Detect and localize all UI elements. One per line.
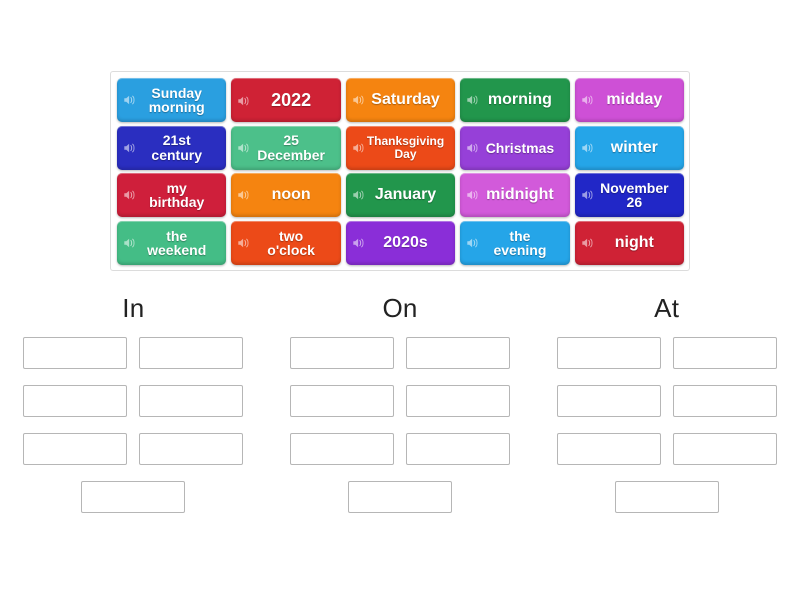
drop-slot[interactable] (139, 385, 243, 417)
speaker-icon[interactable] (352, 93, 366, 107)
word-tile[interactable]: noon (231, 173, 340, 217)
drop-slot[interactable] (23, 337, 127, 369)
word-tile[interactable]: my birthday (117, 173, 226, 217)
word-tile[interactable]: Saturday (346, 78, 455, 122)
word-tile-label: noon (245, 187, 336, 203)
word-tile[interactable]: January (346, 173, 455, 217)
speaker-icon[interactable] (466, 93, 480, 107)
drop-slot[interactable] (290, 385, 394, 417)
speaker-icon[interactable] (466, 236, 480, 250)
drop-slot[interactable] (406, 337, 510, 369)
drop-slot-grid (284, 337, 516, 513)
word-tile-label: my birthday (131, 181, 222, 210)
drop-slot[interactable] (557, 337, 661, 369)
speaker-icon[interactable] (352, 141, 366, 155)
word-tile-label: Saturday (360, 92, 451, 108)
drop-slot[interactable] (290, 433, 394, 465)
word-tile-label: 25 December (245, 133, 336, 162)
tile-pool: Sunday morning2022Saturdaymorningmidday2… (110, 71, 690, 271)
drop-slot[interactable] (23, 433, 127, 465)
tile-row: Sunday morning2022Saturdaymorningmidday (117, 78, 684, 122)
drop-slot[interactable] (673, 433, 777, 465)
word-tile[interactable]: 2020s (346, 221, 455, 265)
word-tile-label: midday (589, 92, 680, 108)
drop-slot[interactable] (673, 385, 777, 417)
word-tile[interactable]: 2022 (231, 78, 340, 122)
category-columns: InOnAt (0, 288, 800, 513)
category-title: On (382, 288, 417, 328)
word-tile[interactable]: night (575, 221, 684, 265)
word-tile-label: the weekend (131, 229, 222, 258)
speaker-icon[interactable] (352, 188, 366, 202)
speaker-icon[interactable] (466, 188, 480, 202)
drop-slot[interactable] (139, 337, 243, 369)
category-title: At (654, 288, 679, 328)
word-tile-label: November 26 (589, 181, 680, 210)
category-title: In (122, 288, 144, 328)
word-tile-label: 2020s (360, 235, 451, 251)
drop-slot-grid (17, 337, 249, 513)
drop-slot[interactable] (348, 481, 452, 513)
word-tile[interactable]: Thanksgiving Day (346, 126, 455, 170)
speaker-icon[interactable] (123, 188, 137, 202)
speaker-icon[interactable] (237, 188, 251, 202)
activity-stage: Sunday morning2022Saturdaymorningmidday2… (0, 0, 800, 600)
word-tile-label: 21st century (131, 133, 222, 162)
drop-slot[interactable] (673, 337, 777, 369)
drop-slot[interactable] (406, 433, 510, 465)
word-tile[interactable]: Sunday morning (117, 78, 226, 122)
tile-row: my birthdaynoonJanuarymidnightNovember 2… (117, 173, 684, 217)
drop-slot[interactable] (557, 385, 661, 417)
speaker-icon[interactable] (581, 188, 595, 202)
speaker-icon[interactable] (581, 236, 595, 250)
drop-slot[interactable] (81, 481, 185, 513)
drop-slot[interactable] (139, 433, 243, 465)
word-tile[interactable]: two o'clock (231, 221, 340, 265)
drop-slot[interactable] (290, 337, 394, 369)
tile-row: 21st century25 DecemberThanksgiving DayC… (117, 126, 684, 170)
speaker-icon[interactable] (237, 236, 251, 250)
word-tile-label: night (589, 235, 680, 251)
speaker-icon[interactable] (237, 93, 251, 107)
word-tile[interactable]: the weekend (117, 221, 226, 265)
word-tile[interactable]: 25 December (231, 126, 340, 170)
speaker-icon[interactable] (581, 141, 595, 155)
category-column: In (0, 288, 267, 513)
drop-slot[interactable] (557, 433, 661, 465)
drop-slot-grid (551, 337, 783, 513)
speaker-icon[interactable] (237, 141, 251, 155)
drop-slot[interactable] (406, 385, 510, 417)
category-column: At (533, 288, 800, 513)
word-tile[interactable]: midday (575, 78, 684, 122)
word-tile[interactable]: November 26 (575, 173, 684, 217)
drop-slot[interactable] (23, 385, 127, 417)
word-tile-label: winter (589, 140, 680, 156)
speaker-icon[interactable] (581, 93, 595, 107)
speaker-icon[interactable] (123, 93, 137, 107)
word-tile-label: January (360, 187, 451, 203)
word-tile-label: the evening (474, 229, 565, 258)
drop-slot[interactable] (615, 481, 719, 513)
word-tile-label: Christmas (474, 141, 565, 155)
speaker-icon[interactable] (466, 141, 480, 155)
word-tile-label: midnight (474, 187, 565, 203)
category-column: On (267, 288, 534, 513)
speaker-icon[interactable] (352, 236, 366, 250)
word-tile[interactable]: 21st century (117, 126, 226, 170)
tile-row: the weekendtwo o'clock2020sthe eveningni… (117, 221, 684, 265)
word-tile[interactable]: Christmas (460, 126, 569, 170)
word-tile-label: Sunday morning (131, 86, 222, 115)
word-tile-label: morning (474, 92, 565, 108)
word-tile[interactable]: the evening (460, 221, 569, 265)
word-tile-label: two o'clock (245, 229, 336, 258)
word-tile[interactable]: morning (460, 78, 569, 122)
word-tile-label: 2022 (245, 91, 336, 109)
word-tile[interactable]: midnight (460, 173, 569, 217)
word-tile-label: Thanksgiving Day (360, 135, 451, 159)
word-tile[interactable]: winter (575, 126, 684, 170)
speaker-icon[interactable] (123, 141, 137, 155)
speaker-icon[interactable] (123, 236, 137, 250)
